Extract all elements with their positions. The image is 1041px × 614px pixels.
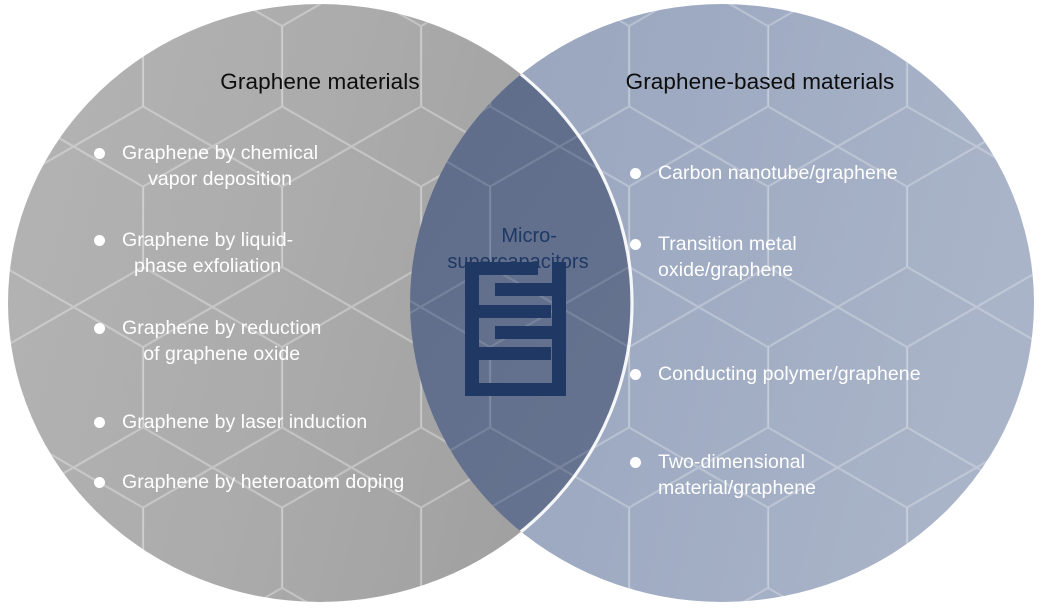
bullet-dot-icon: [630, 168, 641, 179]
overlap-label-line2: supercapacitors: [447, 251, 588, 273]
list-item: Two-dimensionalmaterial/graphene: [630, 450, 970, 501]
list-item-label: Graphene by chemicalvapor deposition: [122, 141, 318, 192]
list-item-label: Transition metaloxide/graphene: [658, 232, 797, 283]
overlap-label-line1: Micro-: [501, 225, 557, 247]
list-item-label: Graphene by laser induction: [122, 410, 367, 436]
list-item-label: Carbon nanotube/graphene: [658, 161, 898, 187]
list-item: Carbon nanotube/graphene: [630, 161, 1000, 187]
bullet-dot-icon: [630, 369, 641, 380]
right-circle-title: Graphene-based materials: [560, 68, 960, 95]
list-item: Graphene by liquid-phase exfoliation: [94, 228, 424, 279]
left-circle-title: Graphene materials: [150, 68, 490, 95]
list-item-label: Graphene by reductionof graphene oxide: [122, 316, 321, 367]
bullet-dot-icon: [94, 148, 105, 159]
list-item: Graphene by laser induction: [94, 410, 474, 436]
list-item: Graphene by chemicalvapor deposition: [94, 141, 424, 192]
overlap-label: Micro-supercapacitors: [418, 197, 618, 301]
list-item-label: Two-dimensionalmaterial/graphene: [658, 450, 816, 501]
list-item-label: Graphene by liquid-phase exfoliation: [122, 228, 293, 279]
list-item: Transition metaloxide/graphene: [630, 232, 960, 283]
bullet-dot-icon: [94, 235, 105, 246]
list-item: Graphene by heteroatom doping: [94, 470, 494, 496]
list-item-label: Graphene by heteroatom doping: [122, 470, 404, 496]
bullet-dot-icon: [94, 323, 105, 334]
bullet-dot-icon: [94, 477, 105, 488]
venn-diagram-canvas: Graphene materials Graphene-based materi…: [0, 0, 1041, 614]
list-item: Conducting polymer/graphene: [630, 362, 1010, 388]
bullet-dot-icon: [630, 457, 641, 468]
list-item-label: Conducting polymer/graphene: [658, 362, 921, 388]
bullet-dot-icon: [94, 417, 105, 428]
bullet-dot-icon: [630, 239, 641, 250]
list-item: Graphene by reductionof graphene oxide: [94, 316, 424, 367]
